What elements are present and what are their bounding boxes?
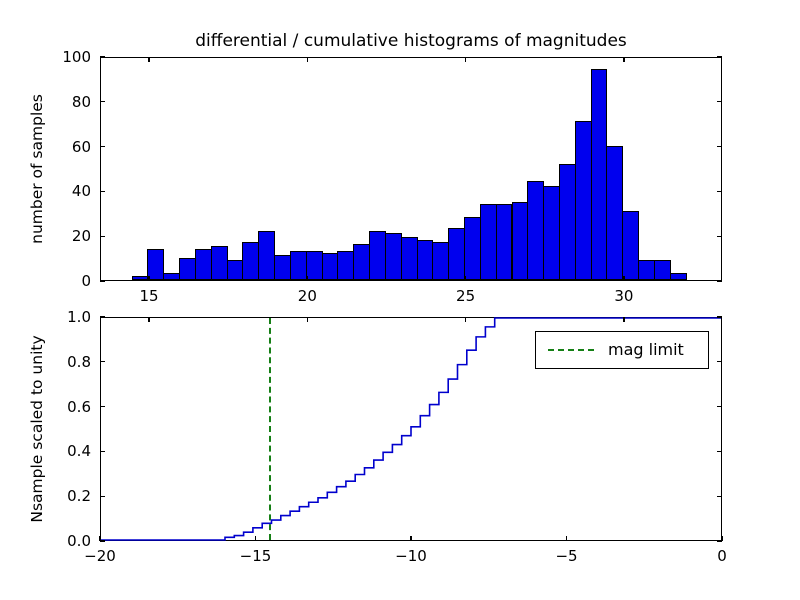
top-panel-y-tick-mark-right <box>717 236 722 237</box>
bottom-panel-top-axis-tick-mark <box>307 317 308 322</box>
histogram-bar <box>401 237 418 280</box>
top-panel-x-tick-mark-top <box>307 57 308 62</box>
bottom-panel-y-tick-label: 0.8 <box>67 353 91 371</box>
histogram-bar <box>385 233 402 280</box>
histogram-bar <box>132 276 149 280</box>
histogram-bar <box>179 258 196 280</box>
legend: mag limit <box>535 331 709 369</box>
histogram-bar <box>432 242 449 280</box>
legend-mag-limit-label: mag limit <box>608 340 684 359</box>
bottom-panel-y-tick-mark-right <box>717 316 722 317</box>
bottom-panel-axes: mag limit <box>100 317 722 541</box>
matplotlib-figure: differential / cumulative histograms of … <box>0 0 800 600</box>
histogram-bar <box>227 260 244 280</box>
histogram-bar <box>622 211 639 280</box>
bottom-panel-x-tick-mark <box>410 536 411 541</box>
top-panel-y-tick-mark <box>100 146 105 147</box>
top-panel-x-tick-mark-top <box>148 57 149 62</box>
top-panel-y-tick-mark-right <box>717 56 722 57</box>
top-panel-y-tick-label: 0 <box>81 272 91 290</box>
bottom-panel-x-tick-mark <box>255 536 256 541</box>
bottom-panel-x-tick-mark <box>721 536 722 541</box>
histogram-bar <box>527 181 544 280</box>
histogram-bar <box>163 273 180 280</box>
bottom-panel-y-axis-label: Nsample scaled to unity <box>28 317 46 541</box>
bottom-panel-top-axis-tick-mark <box>623 317 624 322</box>
histogram-bar <box>274 255 291 280</box>
bottom-panel-y-tick-label: 0.6 <box>67 398 91 416</box>
histogram-bar <box>369 231 386 280</box>
bottom-panel-y-tick-label: 0.4 <box>67 442 91 460</box>
histogram-bar <box>543 186 560 280</box>
histogram-bars <box>101 58 721 280</box>
top-panel-y-tick-mark-right <box>717 191 722 192</box>
top-panel-x-tick-mark <box>623 276 624 281</box>
bottom-panel-y-tick-label: 0.2 <box>67 487 91 505</box>
bottom-panel-y-tick-mark <box>100 451 105 452</box>
bottom-panel-y-tick-mark <box>100 316 105 317</box>
histogram-bar <box>654 260 671 280</box>
top-panel-x-tick-label: 20 <box>298 287 317 305</box>
top-panel-y-tick-mark-right <box>717 280 722 281</box>
top-panel-y-tick-label: 100 <box>62 48 91 66</box>
top-panel-x-tick-mark <box>465 276 466 281</box>
top-panel-y-tick-mark <box>100 191 105 192</box>
histogram-bar <box>591 69 608 280</box>
bottom-panel-top-axis-tick-mark <box>148 317 149 322</box>
histogram-bar <box>242 242 259 280</box>
legend-mag-limit-line-sample <box>548 349 594 351</box>
bottom-panel-y-tick-mark <box>100 496 105 497</box>
bottom-panel-y-tick-mark-right <box>717 406 722 407</box>
histogram-bar <box>211 246 228 280</box>
histogram-bar <box>496 204 513 280</box>
top-panel-y-axis-label: number of samples <box>28 57 46 281</box>
histogram-bar <box>306 251 323 280</box>
histogram-bar <box>638 260 655 280</box>
bottom-panel-y-tick-mark <box>100 406 105 407</box>
top-panel-y-tick-mark-right <box>717 146 722 147</box>
histogram-bar <box>606 146 623 280</box>
bottom-panel-y-tick-label: 1.0 <box>67 308 91 326</box>
top-panel-x-tick-label: 25 <box>456 287 475 305</box>
top-panel-x-tick-mark <box>148 276 149 281</box>
histogram-bar <box>353 244 370 280</box>
top-panel-y-tick-mark <box>100 101 105 102</box>
bottom-panel-x-tick-label: −10 <box>395 547 427 565</box>
bottom-panel-y-tick-mark-right <box>717 451 722 452</box>
top-panel-y-tick-label: 60 <box>72 138 91 156</box>
bottom-panel-top-axis-tick-mark <box>465 317 466 322</box>
histogram-bar <box>258 231 275 280</box>
top-panel-y-tick-mark <box>100 56 105 57</box>
histogram-bar <box>195 249 212 280</box>
bottom-panel-x-tick-mark <box>566 536 567 541</box>
bottom-panel-x-tick-label: −20 <box>84 547 116 565</box>
histogram-bar <box>512 202 529 280</box>
top-panel-x-tick-mark-top <box>465 57 466 62</box>
histogram-bar <box>575 121 592 280</box>
histogram-bar <box>480 204 497 280</box>
histogram-bar <box>670 273 687 280</box>
top-panel-x-tick-mark-top <box>623 57 624 62</box>
top-panel-x-tick-label: 15 <box>140 287 159 305</box>
bottom-panel-y-tick-mark <box>100 361 105 362</box>
top-panel-y-tick-label: 20 <box>72 227 91 245</box>
bottom-panel-y-tick-mark <box>100 540 105 541</box>
top-panel-y-tick-mark-right <box>717 101 722 102</box>
bottom-panel-x-tick-label: −15 <box>240 547 272 565</box>
top-panel-axes <box>100 57 722 281</box>
bottom-panel-y-tick-mark-right <box>717 361 722 362</box>
bottom-panel-x-tick-label: 0 <box>717 547 727 565</box>
figure-title: differential / cumulative histograms of … <box>100 31 722 51</box>
top-panel-y-tick-label: 80 <box>72 93 91 111</box>
histogram-bar <box>290 251 307 280</box>
histogram-bar <box>464 217 481 280</box>
histogram-bar <box>337 251 354 280</box>
histogram-bar <box>147 249 164 280</box>
histogram-bar <box>559 164 576 280</box>
bottom-panel-x-tick-mark <box>99 536 100 541</box>
top-panel-x-tick-mark <box>307 276 308 281</box>
top-panel-y-tick-label: 40 <box>72 182 91 200</box>
histogram-bar <box>417 240 434 280</box>
top-panel-y-tick-mark <box>100 280 105 281</box>
top-panel-y-tick-mark <box>100 236 105 237</box>
bottom-panel-x-tick-label: −5 <box>555 547 577 565</box>
bottom-panel-y-tick-mark-right <box>717 496 722 497</box>
top-panel-x-tick-label: 30 <box>614 287 633 305</box>
histogram-bar <box>448 228 465 280</box>
histogram-bar <box>322 253 339 280</box>
